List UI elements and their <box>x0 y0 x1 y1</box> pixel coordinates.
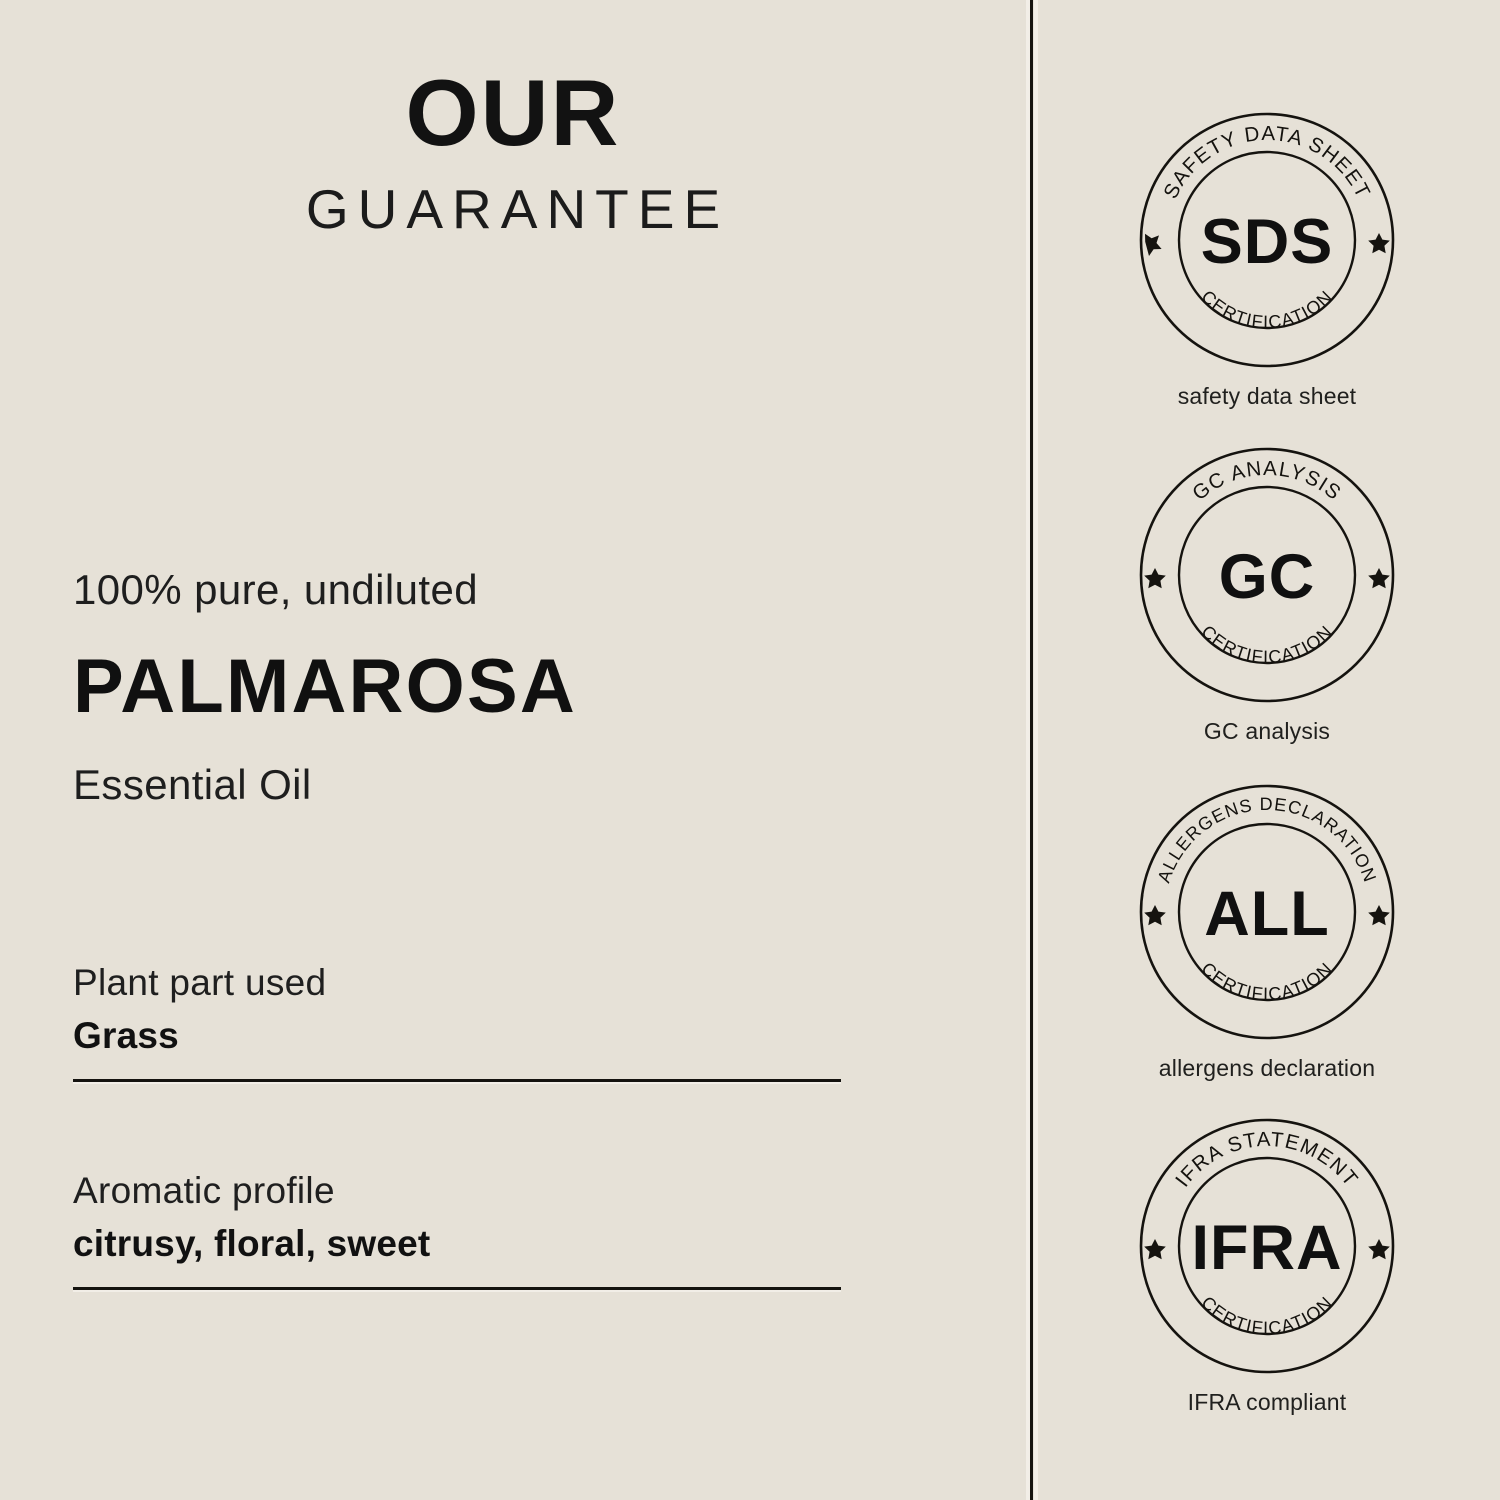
badge-caption: allergens declaration <box>1034 1056 1500 1081</box>
seal-arc-bottom-label: CERTIFICATION <box>1197 286 1336 332</box>
page-title-line-2: GUARANTEE <box>0 182 1026 237</box>
seal-arc-top-label: SAFETY DATA SHEET <box>1159 122 1375 202</box>
product-name: PALMAROSA <box>73 649 873 725</box>
seal-abbreviation: GC <box>1219 542 1316 612</box>
svg-text:CERTIFICATION: CERTIFICATION <box>1197 286 1336 332</box>
attribute-value: Grass <box>73 1015 841 1056</box>
badge-caption: GC analysis <box>1034 719 1500 744</box>
gc-seal-icon: GC ANALYSIS CERTIFICATION GC <box>1127 435 1407 715</box>
svg-text:CERTIFICATION: CERTIFICATION <box>1197 1292 1336 1338</box>
product-tagline: 100% pure, undiluted <box>73 568 873 612</box>
seal-arc-top-label: GC ANALYSIS <box>1188 457 1346 505</box>
seal-star-right-icon <box>1368 233 1390 253</box>
attribute-value: citrusy, floral, sweet <box>73 1223 841 1264</box>
certification-badge-ifra[interactable]: IFRA STATEMENT CERTIFICATION IFRA IFRA c… <box>1034 1106 1500 1415</box>
certification-badge-gc[interactable]: GC ANALYSIS CERTIFICATION GC GC analysis <box>1034 435 1500 744</box>
svg-text:SAFETY DATA SHEET: SAFETY DATA SHEET <box>1159 122 1375 202</box>
svg-text:CERTIFICATION: CERTIFICATION <box>1197 621 1336 667</box>
column-divider <box>1030 0 1033 1500</box>
ifra-seal-icon: IFRA STATEMENT CERTIFICATION IFRA <box>1127 1106 1407 1386</box>
seal-star-left-icon <box>1144 1239 1166 1259</box>
page-title-line-1: OUR <box>0 66 1026 160</box>
seal-star-right-icon <box>1368 905 1390 925</box>
product-subtitle: Essential Oil <box>73 763 873 807</box>
certification-badge-allergens[interactable]: ALLERGENS DECLARATION CERTIFICATION ALL … <box>1034 772 1500 1081</box>
allergens-seal-icon: ALLERGENS DECLARATION CERTIFICATION ALL <box>1127 772 1407 1052</box>
attribute-label: Plant part used <box>73 962 841 1003</box>
seal-star-right-icon <box>1368 1239 1390 1259</box>
seal-abbreviation: ALL <box>1204 879 1329 949</box>
seal-arc-top-label: IFRA STATEMENT <box>1171 1128 1363 1191</box>
attribute-label: Aromatic profile <box>73 1170 841 1211</box>
badge-caption: IFRA compliant <box>1034 1390 1500 1415</box>
seal-star-left-icon <box>1144 905 1166 925</box>
seal-arc-bottom-label: CERTIFICATION <box>1197 621 1336 667</box>
attribute-divider <box>73 1287 841 1290</box>
attribute-list: Plant part used Grass Aromatic profile c… <box>73 962 841 1290</box>
seal-star-right-icon <box>1368 568 1390 588</box>
product-block: 100% pure, undiluted PALMAROSA Essential… <box>73 568 873 807</box>
left-panel: OUR GUARANTEE 100% pure, undiluted PALMA… <box>0 0 1026 1500</box>
badge-caption: safety data sheet <box>1034 384 1500 409</box>
svg-text:GC ANALYSIS: GC ANALYSIS <box>1188 457 1346 505</box>
attribute-divider <box>73 1079 841 1082</box>
seal-abbreviation: IFRA <box>1192 1213 1343 1283</box>
attribute-row-aromatic-profile: Aromatic profile citrusy, floral, sweet <box>73 1170 841 1290</box>
certification-badge-sds[interactable]: SAFETY DATA SHEET CERTIFICATION SDS safe… <box>1034 100 1500 409</box>
sds-seal-icon: SAFETY DATA SHEET CERTIFICATION SDS <box>1127 100 1407 380</box>
seal-star-left-icon <box>1144 568 1166 588</box>
attribute-row-plant-part: Plant part used Grass <box>73 962 841 1082</box>
right-panel: SAFETY DATA SHEET CERTIFICATION SDS safe… <box>1034 0 1500 1500</box>
seal-arc-bottom-label: CERTIFICATION <box>1197 1292 1336 1338</box>
guarantee-infographic: OUR GUARANTEE 100% pure, undiluted PALMA… <box>0 0 1500 1500</box>
seal-arc-bottom-label: CERTIFICATION <box>1197 958 1336 1004</box>
seal-abbreviation: SDS <box>1201 207 1334 277</box>
svg-text:IFRA STATEMENT: IFRA STATEMENT <box>1171 1128 1363 1191</box>
seal-star-left-icon <box>1145 234 1162 256</box>
svg-text:CERTIFICATION: CERTIFICATION <box>1197 958 1336 1004</box>
page-title-block: OUR GUARANTEE <box>0 66 1026 237</box>
